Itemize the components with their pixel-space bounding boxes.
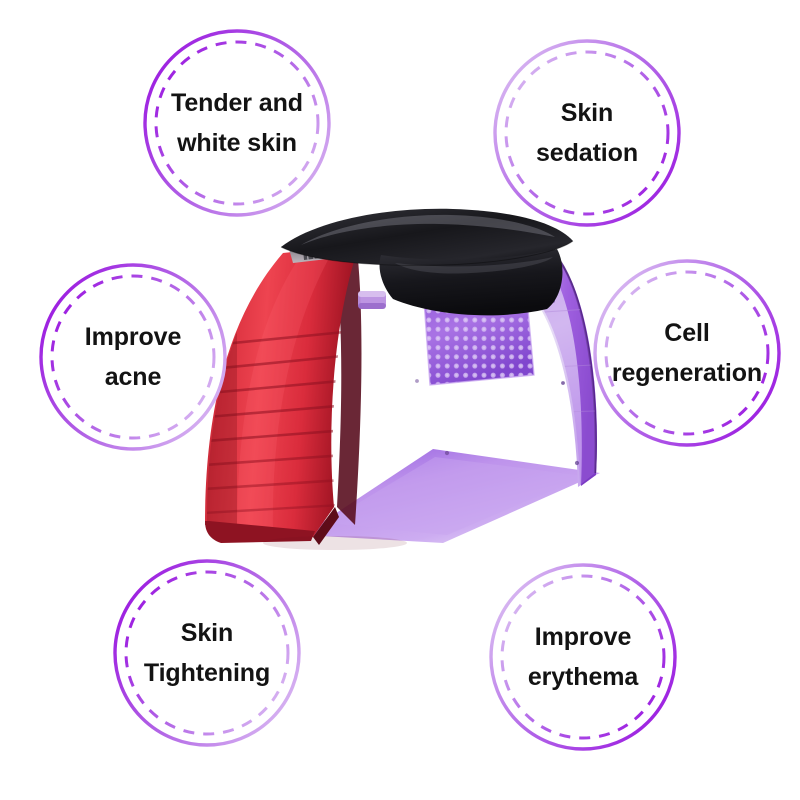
center-connector <box>358 291 386 309</box>
feature-badge-cell-regeneration[interactable]: Cell regeneration <box>592 258 782 448</box>
badge-label-line-1: Skin <box>561 93 613 134</box>
badge-label-line-2: sedation <box>536 133 638 174</box>
badge-label-line-1: Tender and <box>171 83 303 124</box>
badge-label-line-2: white skin <box>177 123 297 164</box>
badge-label-line-2: regeneration <box>612 353 762 394</box>
badge-label: Improve acne <box>24 262 242 452</box>
badge-label-line-2: erythema <box>528 657 638 698</box>
feature-badge-improve-acne[interactable]: Improve acne <box>38 262 228 452</box>
badge-label-line-1: Improve <box>85 317 182 358</box>
badge-label-line-2: acne <box>105 357 162 398</box>
badge-label: Improve erythema <box>474 562 692 752</box>
product-image <box>185 205 615 550</box>
badge-label-line-2: Tightening <box>144 653 270 694</box>
infographic-canvas: Tender and white skin Skin sedation <box>0 0 800 800</box>
feature-badge-improve-erythema[interactable]: Improve erythema <box>488 562 678 752</box>
badge-label: Tender and white skin <box>128 28 346 218</box>
badge-label: Skin sedation <box>478 38 696 228</box>
badge-label: Cell regeneration <box>578 258 796 448</box>
badge-label-line-1: Skin <box>181 613 233 654</box>
badge-label-line-1: Cell <box>664 313 709 354</box>
feature-badge-tender-and-white-skin[interactable]: Tender and white skin <box>142 28 332 218</box>
feature-badge-skin-sedation[interactable]: Skin sedation <box>492 38 682 228</box>
badge-label: Skin Tightening <box>98 558 316 748</box>
feature-badge-skin-tightening[interactable]: Skin Tightening <box>112 558 302 748</box>
badge-label-line-1: Improve <box>535 617 632 658</box>
